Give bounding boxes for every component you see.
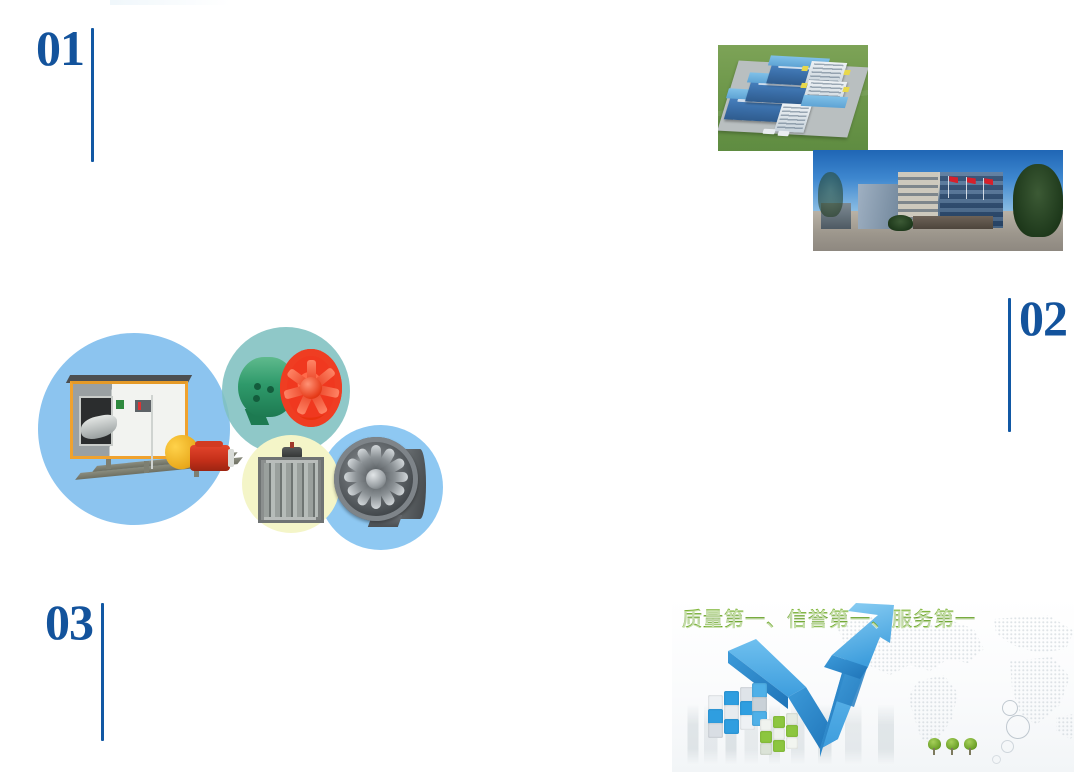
green-cube-graphic [760,709,800,747]
section-marker-02: 02 [1008,296,1067,432]
slide-canvas: 01 [0,0,1074,772]
section-number-02: 02 [1019,296,1067,340]
tree-right [1013,164,1063,237]
section-rule-02 [1008,298,1011,432]
axial-hub [300,377,322,399]
shrub-center [888,215,913,231]
product-air-damper [258,447,326,525]
photo-factory-render [718,45,868,151]
cabinet-label [116,400,124,409]
bubble-2 [1006,715,1030,739]
section-marker-03: 03 [45,600,104,741]
bubble-3 [1001,740,1014,753]
top-edge-artifact [110,0,230,5]
flagpole-1 [948,176,949,198]
cabinet-panel-seam [151,395,153,469]
tree-graphic-2 [946,738,959,754]
factory-marker-yellow-4 [842,87,850,93]
tree-graphic-1 [928,738,941,754]
section-number-01: 01 [36,26,84,70]
factory-marker-yellow-2 [800,83,808,89]
product-cabinet-fan-unit [70,373,230,493]
cabinet-control-panel [135,400,151,412]
slogan-text: 质量第一、信誉第一、服务第一 [682,603,976,632]
flagpole-3 [983,178,984,200]
factory-vehicle-2 [777,131,789,137]
bubble-4 [992,755,1001,764]
cabinet-red-motor [190,445,230,471]
damper-frame [258,457,324,523]
section-rule-01 [91,28,94,162]
axial-impeller-ring [280,349,342,427]
factory-vehicle-1 [762,128,775,134]
product-axial-fan [238,343,342,441]
impeller-disc [334,437,418,521]
flagpole-2 [966,177,967,199]
tree-graphic-3 [964,738,977,754]
product-image-cluster [30,325,430,540]
cabinet-leg-2 [144,461,149,473]
office-front-wall [913,216,993,229]
slogan-banner: 质量第一、信誉第一、服务第一 [672,597,1074,772]
section-number-03: 03 [45,600,93,644]
section-marker-01: 01 [36,26,94,162]
tree-left [818,172,843,216]
product-metal-impeller [330,433,434,533]
blue-cube-graphic [708,681,766,737]
bubble-1 [1002,700,1018,716]
section-rule-03 [101,603,104,741]
photo-office-building [813,150,1063,251]
factory-roof-d [801,95,849,108]
impeller-hub [366,469,386,489]
